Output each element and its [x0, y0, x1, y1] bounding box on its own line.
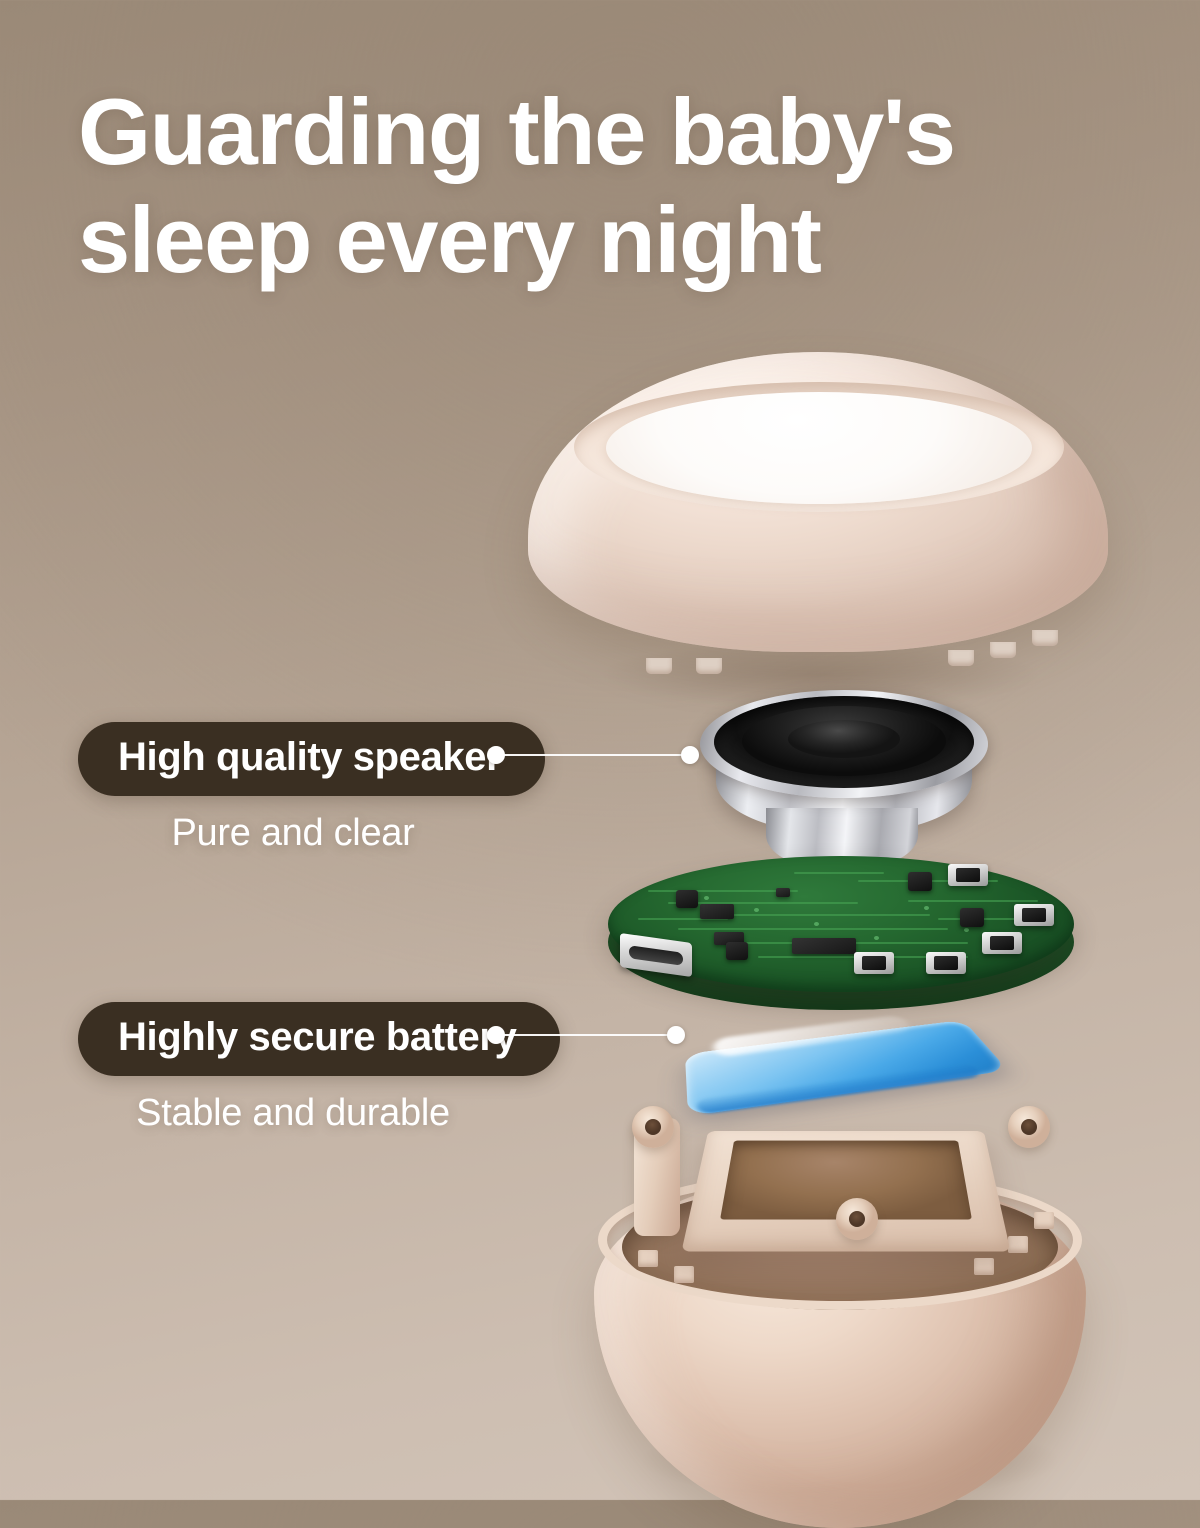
housing-tooth — [1034, 1212, 1054, 1229]
pcb-pad — [704, 896, 709, 900]
callout-speaker-connector — [487, 746, 699, 764]
tactile-button[interactable] — [948, 864, 988, 886]
pcb-pad — [814, 922, 819, 926]
tactile-button[interactable] — [926, 952, 966, 974]
shell-notch — [1032, 630, 1058, 646]
housing-tooth — [674, 1266, 694, 1283]
tactile-button[interactable] — [854, 952, 894, 974]
pcb-trace — [678, 928, 948, 930]
ic-chip — [700, 904, 734, 919]
shell-notch — [948, 650, 974, 666]
top-shell-component — [528, 352, 1108, 672]
shell-notch — [696, 658, 722, 674]
pcb-pad — [924, 906, 929, 910]
connector-dot-end — [681, 746, 699, 764]
callout-battery[interactable]: Highly secure battery Stable and durable — [78, 1002, 508, 1135]
pcb-pad — [964, 928, 969, 932]
bottom-housing-component — [578, 1100, 1102, 1500]
callout-speaker[interactable]: High quality speaker Pure and clear — [78, 722, 508, 855]
capacitor — [676, 890, 698, 908]
capacitor — [960, 908, 984, 927]
pcb-pad — [754, 908, 759, 912]
screw-boss — [632, 1106, 674, 1148]
screw-boss — [1008, 1106, 1050, 1148]
speaker-dust-cap — [788, 720, 900, 758]
callout-battery-connector — [487, 1026, 685, 1044]
pcb-trace — [794, 872, 884, 874]
light-diffuser-lens — [606, 392, 1032, 504]
tactile-button[interactable] — [1014, 904, 1054, 926]
connector-line — [493, 754, 693, 756]
capacitor — [908, 872, 932, 891]
capacitor — [726, 942, 748, 960]
housing-tooth — [638, 1250, 658, 1267]
callout-speaker-title: High quality speaker — [78, 722, 545, 796]
connector-dot-end — [667, 1026, 685, 1044]
circuit-board-component — [608, 838, 1074, 1010]
housing-tooth — [974, 1258, 994, 1275]
ic-chip-wide — [792, 938, 856, 954]
pcb-trace — [700, 914, 930, 916]
connector-line — [493, 1034, 679, 1036]
tactile-button[interactable] — [982, 932, 1022, 954]
screw-boss — [836, 1198, 878, 1240]
callout-battery-subtitle: Stable and durable — [78, 1092, 508, 1135]
housing-tooth — [1008, 1236, 1028, 1253]
shell-notch — [990, 642, 1016, 658]
smd-component — [776, 888, 790, 897]
shell-notch — [646, 658, 672, 674]
pcb-trace — [908, 900, 1038, 902]
callout-speaker-subtitle: Pure and clear — [78, 812, 508, 855]
pcb-pad — [874, 936, 879, 940]
